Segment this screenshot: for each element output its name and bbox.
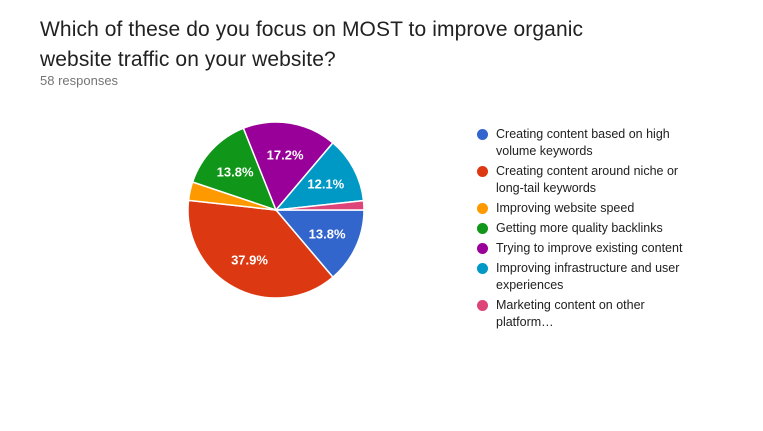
pie-slice-percent-label: 37.9% (231, 253, 268, 268)
legend-item-label: Improving infrastructure and user experi… (496, 260, 701, 294)
response-count-label: 58 responses (40, 72, 118, 90)
legend-item-label: Improving website speed (496, 200, 634, 217)
legend-item[interactable]: Marketing content on other platform… (477, 297, 717, 331)
legend-item-label: Getting more quality backlinks (496, 220, 663, 237)
legend-item-label: Marketing content on other platform… (496, 297, 701, 331)
legend-swatch-blue-icon (477, 129, 488, 140)
legend-swatch-pink-icon (477, 300, 488, 311)
page-title: Which of these do you focus on MOST to i… (40, 15, 640, 75)
legend-item-label: Trying to improve existing content (496, 240, 682, 257)
legend-item-label: Creating content based on high volume ke… (496, 126, 701, 160)
chart-legend: Creating content based on high volume ke… (477, 126, 717, 334)
legend-swatch-green-icon (477, 223, 488, 234)
pie-chart-container: 13.8%37.9%13.8%17.2%12.1% Creating conte… (0, 100, 763, 330)
pie-slice-percent-label: 13.8% (309, 227, 346, 242)
legend-swatch-purple-icon (477, 243, 488, 254)
legend-swatch-red-icon (477, 166, 488, 177)
legend-swatch-orange-icon (477, 203, 488, 214)
pie-chart: 13.8%37.9%13.8%17.2%12.1% (150, 105, 410, 315)
form-response-card: Which of these do you focus on MOST to i… (0, 0, 763, 431)
legend-item[interactable]: Creating content based on high volume ke… (477, 126, 717, 160)
pie-chart-svg: 13.8%37.9%13.8%17.2%12.1% (150, 105, 410, 315)
pie-slice-percent-label: 17.2% (267, 147, 304, 162)
legend-swatch-cyan-icon (477, 263, 488, 274)
pie-slice-percent-label: 12.1% (307, 177, 344, 192)
legend-item[interactable]: Improving infrastructure and user experi… (477, 260, 717, 294)
legend-item[interactable]: Creating content around niche or long-ta… (477, 163, 717, 197)
legend-item[interactable]: Improving website speed (477, 200, 717, 217)
pie-slice-percent-label: 13.8% (217, 164, 254, 179)
legend-item-label: Creating content around niche or long-ta… (496, 163, 701, 197)
legend-item[interactable]: Trying to improve existing content (477, 240, 717, 257)
legend-item[interactable]: Getting more quality backlinks (477, 220, 717, 237)
